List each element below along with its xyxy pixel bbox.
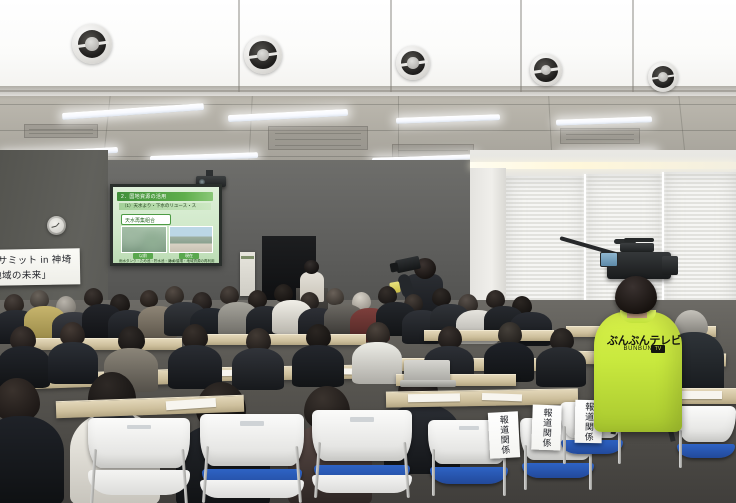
chair-leg bbox=[563, 426, 566, 464]
conference-room-photo: 2．国地資源の活用 （1）天水より・下水のリユース・ス 天水再集組合 以前 現在… bbox=[0, 0, 736, 503]
chair-seat bbox=[677, 444, 735, 458]
reserved-seat-sign-text: 報道関係 bbox=[498, 415, 509, 455]
reserved-seat-sign-text: 報道関係 bbox=[541, 407, 551, 447]
reserved-seat-sign: 報道関係 bbox=[531, 405, 562, 451]
seated-audience-member bbox=[140, 290, 158, 307]
chair-back bbox=[312, 410, 412, 461]
chair-label bbox=[127, 425, 151, 429]
ceiling-speaker-icon bbox=[72, 24, 112, 64]
clock-minute-hand bbox=[52, 225, 57, 227]
reserved-seat-sign-text: 報道関係 bbox=[584, 401, 594, 441]
camera-top-plate bbox=[620, 243, 654, 252]
camera-handle[interactable] bbox=[624, 238, 654, 242]
slide-footnote-left: 雨水タンク・ため池・貯水池・用水 bbox=[119, 259, 175, 263]
camera-lens-hood bbox=[662, 256, 678, 275]
slide-subheading: （1）天水より・下水のリユース・ス bbox=[122, 203, 196, 209]
chair-seat bbox=[522, 463, 595, 479]
fluorescent-light bbox=[556, 116, 652, 125]
clock-face bbox=[49, 218, 64, 233]
camera-lcd-screen[interactable] bbox=[600, 252, 618, 267]
chair-seat-shell bbox=[88, 470, 190, 496]
chair-leg bbox=[524, 445, 527, 490]
shirt-logo-badge-text: TV bbox=[651, 346, 665, 352]
wall-clock bbox=[47, 216, 66, 235]
stacking-chair[interactable] bbox=[200, 414, 304, 503]
presenter-head bbox=[304, 260, 319, 274]
tv-camera-operator-head bbox=[615, 276, 657, 314]
slide-photo-right bbox=[169, 226, 213, 253]
chair-seat bbox=[430, 467, 509, 484]
fluorescent-light bbox=[396, 114, 500, 124]
seated-audience-member bbox=[326, 288, 344, 305]
chair-leg bbox=[679, 430, 682, 468]
slide-heading: 2．国地資源の活用 bbox=[121, 193, 166, 200]
shirt-logo-badge: TV bbox=[651, 345, 665, 353]
clock-hour-hand bbox=[56, 222, 59, 226]
audience-shoulders bbox=[0, 416, 64, 503]
cove-light bbox=[470, 162, 736, 169]
ceiling-speakers bbox=[0, 0, 736, 100]
handout-papers bbox=[408, 393, 460, 402]
presentation-slide: 2．国地資源の活用 （1）天水より・下水のリユース・ス 天水再集組合 以前 現在… bbox=[113, 187, 219, 263]
chair-seat-shell bbox=[200, 480, 304, 498]
slide-footnote-right: 水の循環・地域資源の再利用 bbox=[169, 259, 215, 263]
slide-heading-bar: 2．国地資源の活用 bbox=[117, 192, 213, 201]
chair-back bbox=[200, 414, 304, 466]
audience-shoulders bbox=[536, 347, 586, 387]
slide-section-box: 天水再集組合 bbox=[121, 214, 171, 225]
chair-seat-shell bbox=[312, 475, 412, 493]
reserved-seat-sign: 報道関係 bbox=[488, 411, 520, 459]
ceiling-speaker-icon bbox=[396, 46, 430, 80]
laptop[interactable] bbox=[404, 360, 450, 382]
chair-back bbox=[88, 418, 190, 468]
tv-camera-operator-shirt bbox=[594, 312, 682, 432]
laptop-keyboard[interactable] bbox=[400, 380, 456, 387]
slide-section-label: 天水再集組合 bbox=[125, 217, 155, 224]
chair-label bbox=[459, 426, 479, 430]
projection-screen: 2．国地資源の活用 （1）天水より・下水のリユース・ス 天水再集組合 以前 現在… bbox=[110, 184, 222, 266]
chair-back bbox=[676, 406, 736, 442]
handout-papers bbox=[482, 393, 522, 401]
stacking-chair[interactable] bbox=[88, 418, 190, 503]
ceiling-speaker-icon bbox=[530, 54, 562, 86]
chair-leg bbox=[432, 449, 435, 496]
ceiling-speaker-icon bbox=[648, 62, 678, 92]
fluorescent-light bbox=[228, 109, 348, 122]
slide-subheading-bar: （1）天水より・下水のリユース・ス bbox=[119, 203, 211, 210]
slide-photo-left bbox=[121, 226, 167, 253]
fluorescent-light bbox=[62, 103, 204, 120]
handout-papers bbox=[166, 398, 217, 410]
ceiling-speaker-icon bbox=[244, 36, 282, 74]
banner-line-1: サミット in 神埼 bbox=[0, 251, 72, 266]
chair-label bbox=[350, 417, 374, 422]
shirt-logo: ぶんぶんテレビ BUNBUN TV bbox=[607, 332, 669, 358]
chair-label bbox=[240, 421, 265, 426]
stacking-chair[interactable] bbox=[312, 410, 412, 498]
stacking-chair[interactable] bbox=[676, 406, 736, 468]
